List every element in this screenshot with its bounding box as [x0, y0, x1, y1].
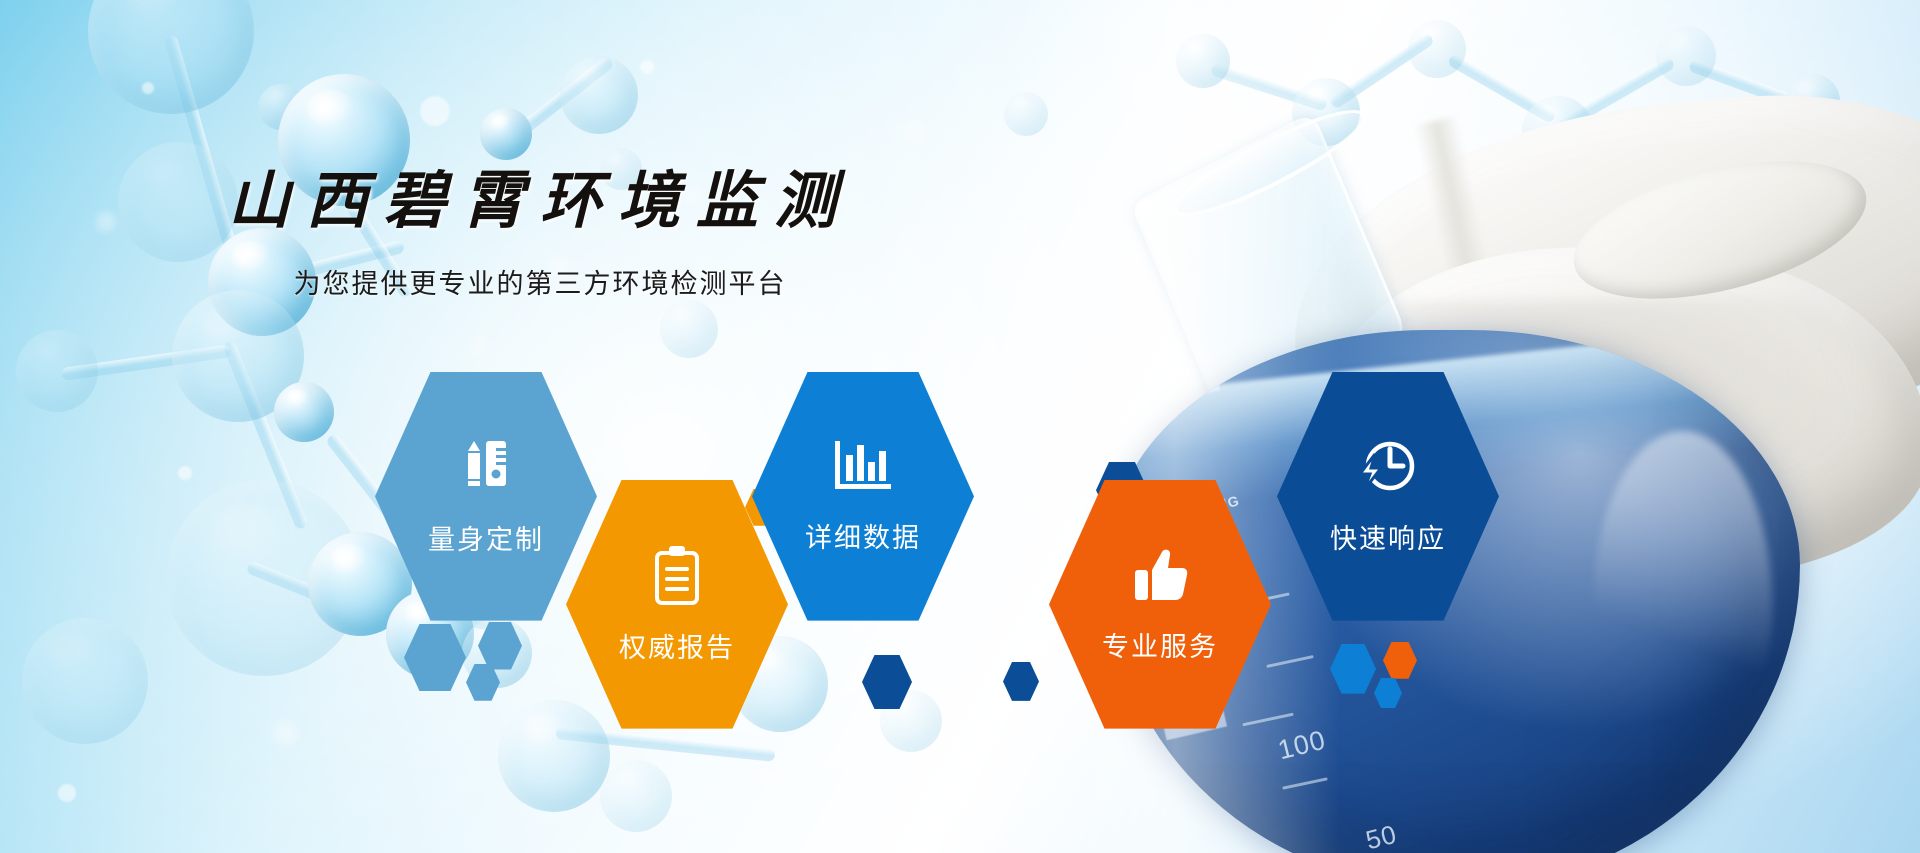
feature-hex-label: 专业服务 — [1102, 625, 1218, 664]
pencil-ruler-icon — [454, 435, 518, 504]
headline-block: 山西碧霄环境监测 为您提供更专业的第三方环境检测平台 — [0, 150, 1080, 301]
clock-bolt-icon — [1355, 436, 1421, 503]
feature-hex-label: 权威报告 — [619, 626, 735, 665]
feature-hex-label: 详细数据 — [805, 516, 921, 555]
feature-hex-label: 量身定制 — [428, 518, 544, 557]
feature-hex-4[interactable]: 专业服务 — [1049, 480, 1271, 729]
banner-headline: 山西碧霄环境监测 — [0, 150, 1080, 240]
feature-hexagon-group: 量身定制权威报告详细数据专业服务快速响应 — [0, 0, 1920, 853]
promo-banner: TAI FONG T F 100 50 125ml 山西碧霄环境监测 为您提供更… — [0, 0, 1920, 853]
feature-hex-1[interactable]: 量身定制 — [375, 372, 597, 621]
bar-chart-icon — [831, 437, 895, 502]
thumbs-up-icon — [1129, 544, 1191, 611]
feature-hex-3[interactable]: 详细数据 — [752, 372, 974, 621]
clipboard-report-icon — [647, 543, 707, 612]
feature-hex-label: 快速响应 — [1330, 517, 1446, 556]
feature-hex-2[interactable]: 权威报告 — [566, 480, 788, 729]
banner-subheadline: 为您提供更专业的第三方环境检测平台 — [0, 262, 1080, 301]
feature-hex-5[interactable]: 快速响应 — [1277, 372, 1499, 621]
